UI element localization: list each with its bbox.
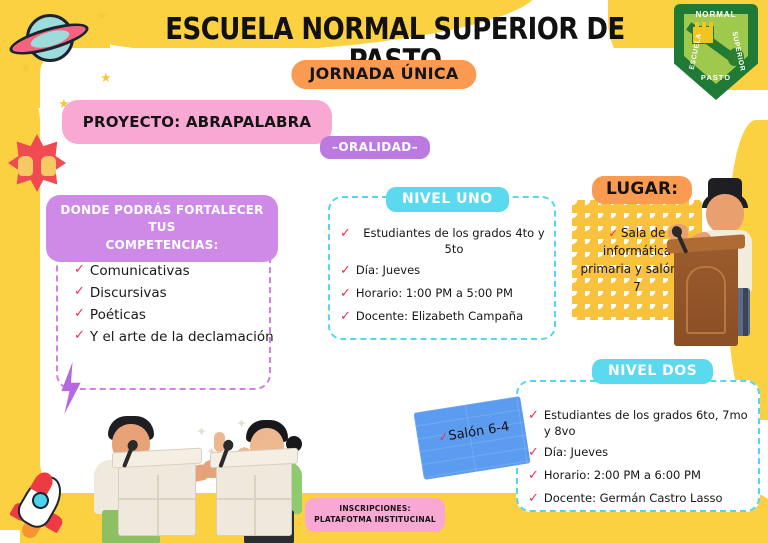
podium-right-illustration — [216, 460, 292, 536]
list-item: ✓Comunicativas — [74, 262, 274, 281]
school-logo: NORMAL ESCUELA SUPERIOR PASTO — [674, 4, 758, 100]
check-icon: ✓ — [340, 263, 351, 280]
inscripciones-badge: INSCRIPCIONES: PLATAFOTMA INSTITUCINAL — [305, 498, 445, 532]
nivel-uno-badge: NIVEL UNO — [386, 187, 509, 212]
list-item: ✓Estudiantes de los grados 4to y 5to — [340, 226, 552, 257]
podium-left-illustration — [118, 460, 196, 536]
check-icon: ✓ — [528, 468, 539, 485]
poster-canvas: ★ ★ ★ ★ ESCUELA NORMAL SUPERIOR DE PASTO… — [0, 0, 768, 543]
wooden-podium-illustration — [674, 246, 738, 346]
schedule-badge: JORNADA ÚNICA — [291, 60, 476, 89]
nivel-uno-item-0: Estudiantes de los grados 4to y 5to — [356, 226, 552, 257]
competencias-item-2: Poéticas — [90, 306, 146, 325]
list-item: ✓Horario: 2:00 PM a 6:00 PM — [528, 468, 756, 485]
inscripciones-line2: PLATAFOTMA INSTITUCINAL — [311, 514, 439, 525]
check-icon: ✓ — [609, 227, 618, 240]
star-icon: ★ — [96, 8, 108, 24]
nivel-uno-item-3: Docente: Elizabeth Campaña — [356, 309, 523, 325]
list-item: ✓Y el arte de la declamación — [74, 328, 274, 347]
check-icon: ✓ — [340, 309, 351, 326]
project-title-text: PROYECTO: ABRAPALABRA — [83, 113, 311, 131]
rocket-icon — [8, 470, 78, 536]
competencias-item-3: Y el arte de la declamación — [90, 328, 274, 347]
star-icon: ★ — [20, 60, 32, 76]
check-icon: ✓ — [74, 328, 85, 345]
competencias-item-1: Discursivas — [90, 284, 167, 303]
lugar-badge: LUGAR: — [592, 176, 692, 204]
list-item: ✓Horario: 1:00 PM a 5:00 PM — [340, 286, 552, 303]
nivel-uno-card: ✓Estudiantes de los grados 4to y 5to ✓Dí… — [328, 196, 556, 340]
competencias-header: DONDE PODRÁS FORTALECER TUS COMPETENCIAS… — [46, 195, 278, 262]
check-icon: ✓ — [528, 408, 539, 425]
check-icon: ✓ — [340, 286, 351, 303]
check-icon: ✓ — [340, 226, 351, 243]
nivel-dos-item-0: Estudiantes de los grados 6to, 7mo y 8vo — [544, 408, 756, 439]
nivel-dos-item-3: Docente: Germán Castro Lasso — [544, 491, 723, 507]
check-icon: ✓ — [74, 306, 85, 323]
competencias-list: ✓Comunicativas ✓Discursivas ✓Poéticas ✓Y… — [74, 262, 274, 351]
competencias-header-line2: COMPETENCIAS: — [106, 238, 219, 252]
logo-word-bottom: PASTO — [674, 73, 758, 82]
star-icon: ★ — [100, 70, 112, 86]
inscripciones-line1: INSCRIPCIONES: — [311, 503, 439, 514]
clapping-hands-icon — [8, 134, 66, 192]
project-title-banner: PROYECTO: ABRAPALABRA — [62, 100, 332, 144]
list-item: ✓Poéticas — [74, 306, 274, 325]
nivel-dos-list: ✓Estudiantes de los grados 6to, 7mo y 8v… — [528, 408, 756, 514]
list-item: ✓Día: Jueves — [340, 263, 552, 280]
list-item: ✓Docente: Germán Castro Lasso — [528, 491, 756, 508]
project-tag-badge: –ORALIDAD– — [320, 136, 430, 159]
nivel-uno-item-2: Horario: 1:00 PM a 5:00 PM — [356, 286, 513, 302]
logo-word-top: NORMAL — [674, 10, 758, 19]
competencias-header-line1: DONDE PODRÁS FORTALECER TUS — [60, 203, 263, 234]
list-item: ✓Discursivas — [74, 284, 274, 303]
list-item: ✓Docente: Elizabeth Campaña — [340, 309, 552, 326]
list-item: ✓Estudiantes de los grados 6to, 7mo y 8v… — [528, 408, 756, 439]
check-icon: ✓ — [74, 284, 85, 301]
nivel-dos-card: ✓Estudiantes de los grados 6to, 7mo y 8v… — [516, 380, 760, 512]
nivel-dos-item-2: Horario: 2:00 PM a 6:00 PM — [544, 468, 701, 484]
nivel-uno-list: ✓Estudiantes de los grados 4to y 5to ✓Dí… — [340, 226, 552, 332]
nivel-dos-badge: NIVEL DOS — [592, 359, 713, 384]
list-item: ✓Día: Jueves — [528, 445, 756, 462]
competencias-item-0: Comunicativas — [90, 262, 190, 281]
check-icon: ✓ — [74, 262, 85, 279]
nivel-uno-item-1: Día: Jueves — [356, 263, 420, 279]
nivel-dos-item-1: Día: Jueves — [544, 445, 608, 461]
check-icon: ✓ — [528, 491, 539, 508]
